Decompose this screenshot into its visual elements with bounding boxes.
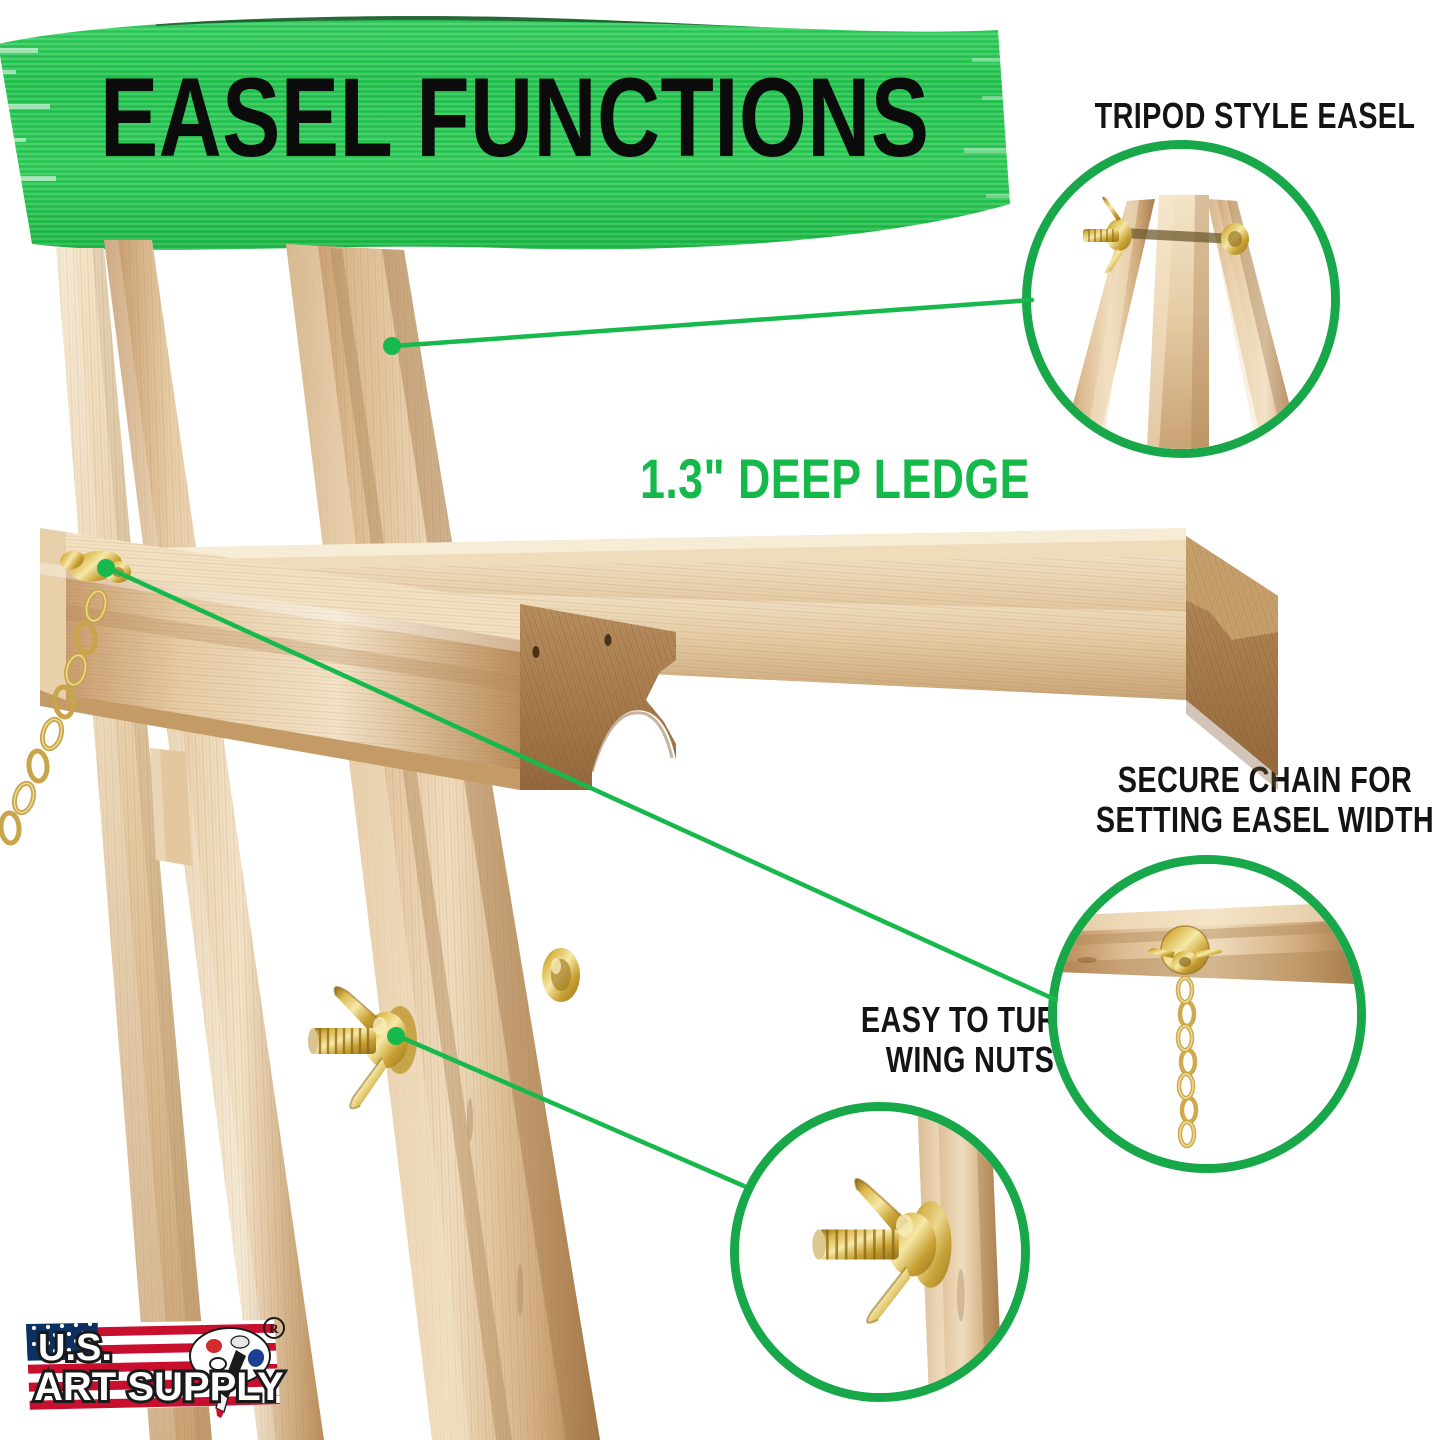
logo-line-2: ART SUPPLY [34, 1365, 284, 1409]
infographic-canvas: EASEL FUNCTIONS TRIPOD STYLE EASEL 1.3" … [0, 0, 1440, 1440]
page-title: EASEL FUNCTIONS [100, 62, 929, 174]
mast-brass-knob [542, 948, 580, 1002]
svg-text:R: R [269, 1321, 279, 1336]
us-art-supply-logo[interactable]: R U.S. ART SUPPLY [22, 1312, 294, 1422]
easel-product-photo [0, 0, 1440, 1440]
logo-line-1: U.S. [38, 1327, 112, 1369]
easel-front-mast [286, 244, 600, 1440]
